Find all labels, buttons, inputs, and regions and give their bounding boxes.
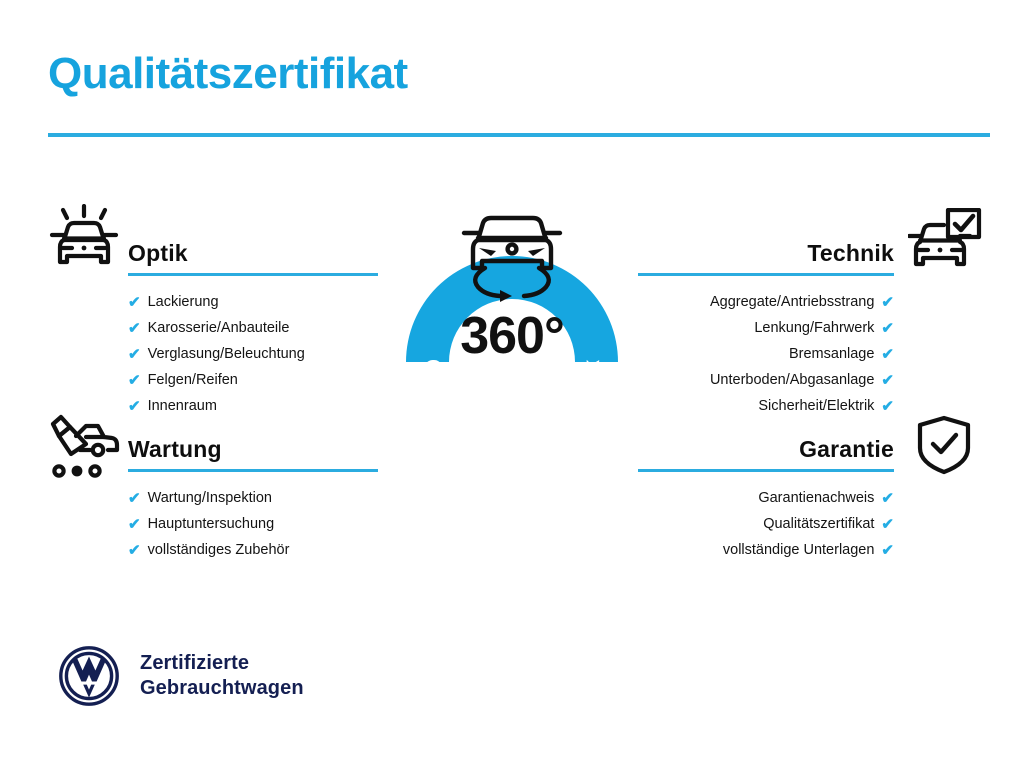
checklist-optik: ✔Lackierung ✔Karosserie/Anbauteile ✔Verg… bbox=[128, 289, 378, 419]
list-item: ✔Felgen/Reifen bbox=[128, 367, 378, 393]
list-item: ✔Lackierung bbox=[128, 289, 378, 315]
car-front-checkbox-icon bbox=[908, 208, 982, 279]
list-item-label: Garantienachweis bbox=[758, 491, 874, 506]
badge-ring-label: Gebrauchtwagen-Check bbox=[420, 358, 605, 454]
page-title: Qualitätszertifikat bbox=[48, 52, 408, 96]
list-item-label: Hauptuntersuchung bbox=[148, 517, 275, 532]
list-item: Unterboden/Abgasanlage✔ bbox=[638, 367, 894, 393]
badge-center-label: 360° bbox=[378, 310, 646, 362]
section-divider bbox=[638, 273, 894, 276]
section-technik: Technik Aggregate/Antriebsstrang✔ Lenkun… bbox=[638, 232, 894, 419]
list-item: Qualitätszertifikat✔ bbox=[638, 511, 894, 537]
list-item: Bremsanlage✔ bbox=[638, 341, 894, 367]
section-title-technik: Technik bbox=[807, 240, 894, 267]
pencil-car-service-icon bbox=[46, 414, 124, 485]
badge-360-check: Gebrauchtwagen-Check 360° bbox=[378, 192, 646, 492]
check-icon: ✔ bbox=[881, 517, 894, 532]
list-item: ✔Verglasung/Beleuchtung bbox=[128, 341, 378, 367]
list-item-label: Qualitätszertifikat bbox=[763, 517, 874, 532]
list-item-label: Felgen/Reifen bbox=[148, 373, 238, 388]
list-item-label: vollständige Unterlagen bbox=[723, 543, 875, 558]
section-header: Technik bbox=[638, 232, 894, 276]
section-wartung: Wartung ✔Wartung/Inspektion ✔Hauptunters… bbox=[128, 428, 378, 563]
section-optik: Optik ✔Lackierung ✔Karosserie/Anbauteile… bbox=[128, 232, 378, 419]
check-icon: ✔ bbox=[128, 321, 141, 336]
list-item-label: Sicherheit/Elektrik bbox=[758, 399, 874, 414]
check-icon: ✔ bbox=[128, 295, 141, 310]
list-item-label: Unterboden/Abgasanlage bbox=[710, 373, 874, 388]
car-front-shine-icon bbox=[48, 204, 120, 279]
list-item: Lenkung/Fahrwerk✔ bbox=[638, 315, 894, 341]
list-item-label: Wartung/Inspektion bbox=[148, 491, 272, 506]
footer-line-1: Zertifizierte bbox=[140, 651, 304, 676]
section-divider bbox=[128, 469, 378, 472]
check-icon: ✔ bbox=[128, 347, 141, 362]
list-item-label: vollständiges Zubehör bbox=[148, 543, 290, 558]
check-icon: ✔ bbox=[881, 347, 894, 362]
list-item: ✔Wartung/Inspektion bbox=[128, 485, 378, 511]
checklist-garantie: Garantienachweis✔ Qualitätszertifikat✔ v… bbox=[638, 485, 894, 563]
check-icon: ✔ bbox=[881, 373, 894, 388]
list-item-label: Karosserie/Anbauteile bbox=[148, 321, 290, 336]
header-divider bbox=[48, 133, 990, 137]
checklist-technik: Aggregate/Antriebsstrang✔ Lenkung/Fahrwe… bbox=[638, 289, 894, 419]
section-title-garantie: Garantie bbox=[799, 436, 894, 463]
checklist-wartung: ✔Wartung/Inspektion ✔Hauptuntersuchung ✔… bbox=[128, 485, 378, 563]
list-item-label: Verglasung/Beleuchtung bbox=[148, 347, 305, 362]
certificate-page: Qualitätszertifikat bbox=[0, 0, 1024, 768]
check-icon: ✔ bbox=[881, 491, 894, 506]
section-garantie: Garantie Garantienachweis✔ Qualitätszert… bbox=[638, 428, 894, 563]
section-title-optik: Optik bbox=[128, 240, 188, 267]
section-header: Optik bbox=[128, 232, 378, 276]
check-icon: ✔ bbox=[128, 543, 141, 558]
list-item-label: Aggregate/Antriebsstrang bbox=[710, 295, 874, 310]
check-icon: ✔ bbox=[881, 399, 894, 414]
footer-line-2: Gebrauchtwagen bbox=[140, 676, 304, 701]
list-item: Sicherheit/Elektrik✔ bbox=[638, 393, 894, 419]
check-icon: ✔ bbox=[128, 517, 141, 532]
check-icon: ✔ bbox=[881, 543, 894, 558]
check-icon: ✔ bbox=[128, 491, 141, 506]
list-item: vollständige Unterlagen✔ bbox=[638, 537, 894, 563]
section-header: Garantie bbox=[638, 428, 894, 472]
list-item: ✔Karosserie/Anbauteile bbox=[128, 315, 378, 341]
section-divider bbox=[128, 273, 378, 276]
list-item-label: Lenkung/Fahrwerk bbox=[754, 321, 874, 336]
section-divider bbox=[638, 469, 894, 472]
section-title-wartung: Wartung bbox=[128, 436, 222, 463]
check-icon: ✔ bbox=[881, 295, 894, 310]
check-icon: ✔ bbox=[881, 321, 894, 336]
list-item: Aggregate/Antriebsstrang✔ bbox=[638, 289, 894, 315]
list-item: ✔vollständiges Zubehör bbox=[128, 537, 378, 563]
footer-wordmark: Zertifizierte Gebrauchtwagen bbox=[140, 651, 304, 701]
shield-check-icon bbox=[914, 414, 974, 481]
list-item-label: Lackierung bbox=[148, 295, 219, 310]
footer-brand: Zertifizierte Gebrauchtwagen bbox=[58, 645, 304, 707]
list-item: ✔Innenraum bbox=[128, 393, 378, 419]
section-header: Wartung bbox=[128, 428, 378, 472]
list-item-label: Bremsanlage bbox=[789, 347, 874, 362]
list-item: Garantienachweis✔ bbox=[638, 485, 894, 511]
check-icon: ✔ bbox=[128, 373, 141, 388]
list-item: ✔Hauptuntersuchung bbox=[128, 511, 378, 537]
volkswagen-logo bbox=[58, 645, 120, 707]
check-icon: ✔ bbox=[128, 399, 141, 414]
list-item-label: Innenraum bbox=[148, 399, 217, 414]
